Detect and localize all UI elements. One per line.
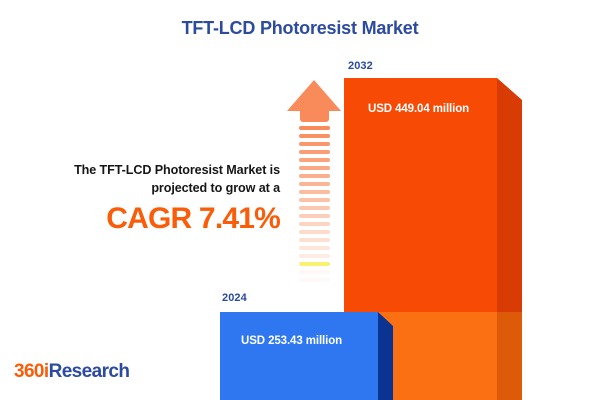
arrow-stripe	[299, 150, 330, 154]
cagr-value: CAGR 7.41%	[12, 202, 280, 235]
arrow-stripe	[299, 278, 330, 282]
bar-forecast-year-label: 2032	[348, 60, 373, 72]
arrow-stripe	[299, 198, 330, 202]
arrow-head-shape	[287, 80, 341, 111]
brand-logo-part-a: 360i	[14, 361, 49, 382]
arrow-stripe	[299, 238, 330, 242]
cagr-lead-line-2: projected to grow at a	[12, 180, 280, 198]
bar-base-year: 2024 USD 253.43 million	[220, 312, 393, 400]
cagr-callout: The TFT-LCD Photoresist Market is projec…	[12, 162, 280, 235]
arrow-stripe	[299, 270, 330, 274]
arrow-stripe	[299, 230, 330, 234]
bar-base-face	[220, 312, 378, 400]
up-arrow-icon	[287, 80, 342, 285]
bar-forecast-side-upper	[497, 78, 522, 312]
brand-logo[interactable]: 360iResearch	[14, 361, 129, 383]
bar-forecast-value-label: USD 449.04 million	[368, 103, 469, 115]
arrow-neck-shape	[300, 111, 329, 122]
bar-forecast-side-lower	[497, 312, 522, 400]
arrow-stripe	[299, 214, 330, 218]
arrow-stripe	[299, 142, 330, 146]
market-infographic: TFT-LCD Photoresist Market The TFT-LCD P…	[0, 0, 600, 400]
page-title: TFT-LCD Photoresist Market	[0, 18, 600, 39]
brand-logo-part-b: Research	[49, 361, 130, 382]
cagr-lead-line-1: The TFT-LCD Photoresist Market is	[12, 162, 280, 180]
arrow-stripe-stack	[299, 126, 330, 285]
arrow-stripe	[299, 126, 330, 130]
arrow-stripe	[299, 206, 330, 210]
bar-base-side	[378, 312, 393, 400]
bar-base-value-label: USD 253.43 million	[241, 335, 342, 347]
arrow-stripe	[299, 182, 330, 186]
arrow-stripe	[299, 134, 330, 138]
arrow-stripe	[299, 246, 330, 250]
arrow-stripe	[299, 166, 330, 170]
arrow-stripe	[299, 254, 330, 258]
arrow-stripe	[299, 190, 330, 194]
bar-base-year-label: 2024	[222, 292, 247, 304]
arrow-stripe	[299, 174, 330, 178]
arrow-stripe	[299, 222, 330, 226]
arrow-stripe	[299, 158, 330, 162]
arrow-stripe	[299, 262, 330, 266]
